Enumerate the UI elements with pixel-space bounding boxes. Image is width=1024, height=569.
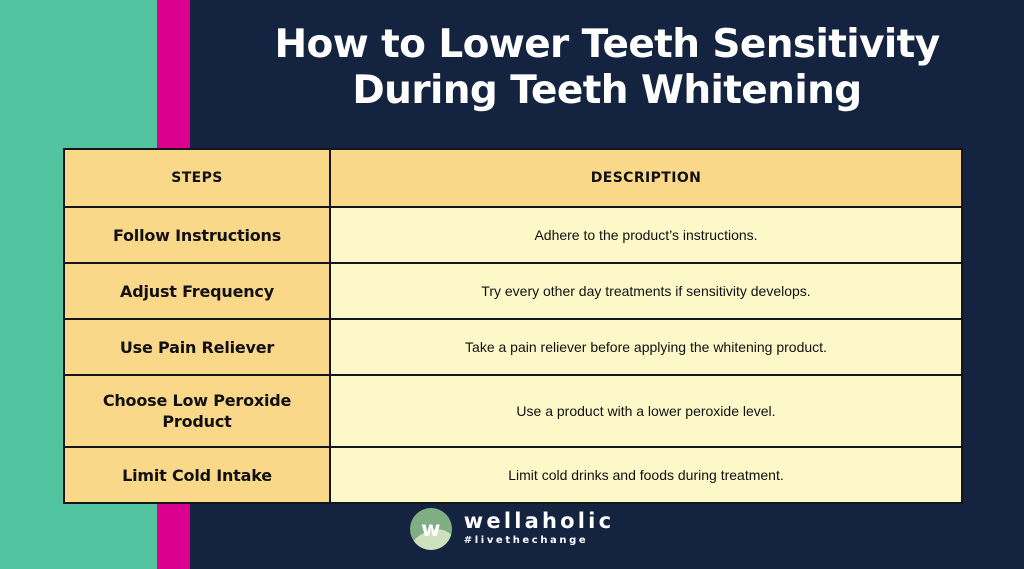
cell-step: Follow Instructions — [64, 207, 330, 263]
logo-badge-icon: w — [410, 508, 452, 550]
cell-step: Adjust Frequency — [64, 263, 330, 319]
logo-text-block: wellaholic #livethechange — [464, 510, 614, 548]
steps-table: STEPS DESCRIPTION Follow Instructions Ad… — [63, 148, 963, 504]
cell-step: Choose Low Peroxide Product — [64, 375, 330, 447]
brand-logo: w wellaholic #livethechange — [0, 508, 1024, 550]
cell-description: Adhere to the product’s instructions. — [330, 207, 962, 263]
cell-description: Take a pain reliever before applying the… — [330, 319, 962, 375]
column-header-description: DESCRIPTION — [330, 149, 962, 207]
table-header: STEPS DESCRIPTION — [64, 149, 962, 207]
table-row: Limit Cold Intake Limit cold drinks and … — [64, 447, 962, 503]
cell-description: Use a product with a lower peroxide leve… — [330, 375, 962, 447]
page-title-line-2: During Teeth Whitening — [190, 68, 1024, 114]
cell-step: Use Pain Reliever — [64, 319, 330, 375]
table-row: Adjust Frequency Try every other day tre… — [64, 263, 962, 319]
column-header-steps: STEPS — [64, 149, 330, 207]
cell-description: Try every other day treatments if sensit… — [330, 263, 962, 319]
cell-description: Limit cold drinks and foods during treat… — [330, 447, 962, 503]
logo-tagline: #livethechange — [464, 534, 614, 548]
logo-wordmark: wellaholic — [464, 510, 614, 532]
logo-badge-letter: w — [410, 508, 452, 550]
table-header-row: STEPS DESCRIPTION — [64, 149, 962, 207]
infographic-poster: How to Lower Teeth Sensitivity During Te… — [0, 0, 1024, 569]
page-title-line-1: How to Lower Teeth Sensitivity — [190, 22, 1024, 68]
table-row: Use Pain Reliever Take a pain reliever b… — [64, 319, 962, 375]
steps-table-container: STEPS DESCRIPTION Follow Instructions Ad… — [63, 148, 961, 504]
cell-step: Limit Cold Intake — [64, 447, 330, 503]
page-title: How to Lower Teeth Sensitivity During Te… — [190, 22, 1024, 114]
table-body: Follow Instructions Adhere to the produc… — [64, 207, 962, 503]
table-row: Follow Instructions Adhere to the produc… — [64, 207, 962, 263]
table-row: Choose Low Peroxide Product Use a produc… — [64, 375, 962, 447]
